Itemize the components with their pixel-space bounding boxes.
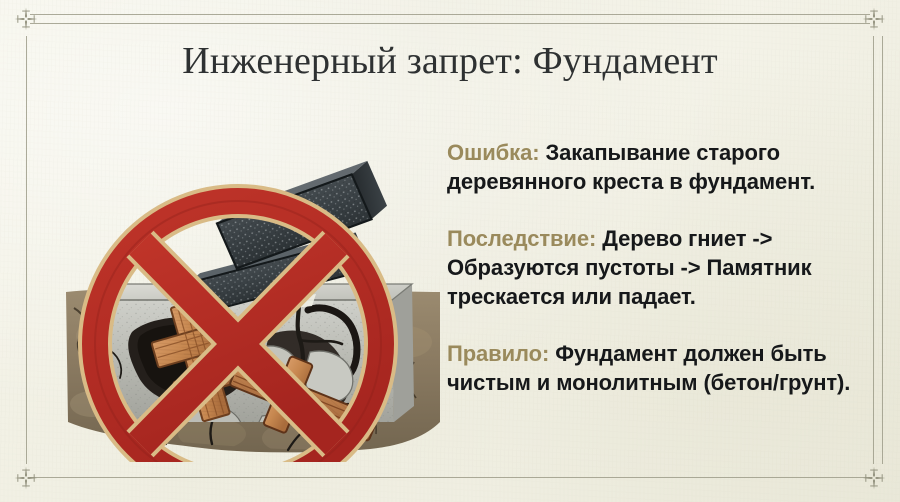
frame-line-left-outer (26, 36, 27, 464)
page-title: Инженерный запрет: Фундамент (0, 40, 900, 84)
frame-line-top-inner (30, 23, 870, 24)
four-point-star-ornament-icon-top-left (13, 6, 39, 32)
paragraph-consequence: Последствие: Дерево гниет -> Образуются … (447, 224, 853, 311)
frame-line-top-outer (30, 14, 870, 15)
paragraph-mistake-lede: Ошибка: (447, 140, 539, 165)
paragraph-consequence-lede: Последствие: (447, 226, 596, 251)
frame-line-right-outer (873, 36, 874, 464)
illustration-buried-wooden-cross (62, 104, 444, 462)
four-point-star-ornament-icon-bottom-right (861, 465, 887, 491)
four-point-star-ornament-icon-bottom-left (13, 465, 39, 491)
four-point-star-ornament-icon-top-right (861, 6, 887, 32)
slide-root: Инженерный запрет: Фундамент (0, 0, 900, 502)
frame-line-bottom-outer (30, 477, 870, 478)
explanatory-text-block: Ошибка: Закапывание старого деревянного … (447, 138, 853, 397)
frame-line-right-inner (882, 36, 883, 464)
paragraph-rule-lede: Правило: (447, 341, 549, 366)
paragraph-rule: Правило: Фундамент должен быть чистым и … (447, 339, 853, 397)
paragraph-mistake: Ошибка: Закапывание старого деревянного … (447, 138, 853, 196)
